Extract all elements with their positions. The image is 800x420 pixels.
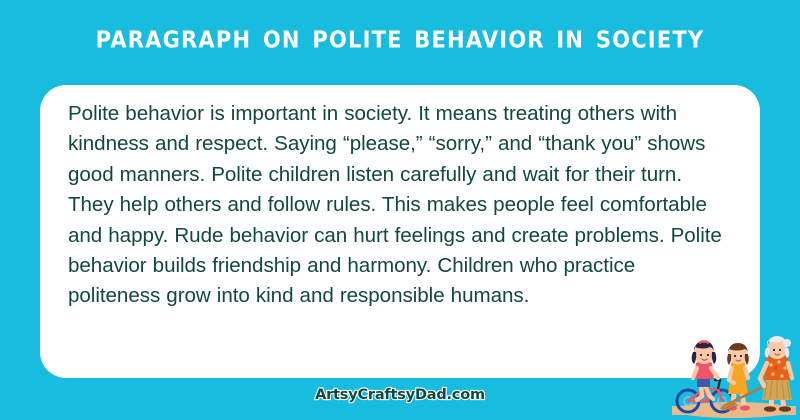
content-card: Polite behavior is important in society.…: [40, 85, 760, 378]
header: Paragraph on Polite Behavior in Society: [0, 16, 800, 54]
site-watermark: ArtsyCraftsyDad.com: [315, 387, 485, 403]
footer: ArtsyCraftsyDad.com: [0, 386, 800, 404]
paragraph-text: Polite behavior is important in society.…: [68, 99, 728, 312]
poster: Paragraph on Polite Behavior in Society …: [0, 0, 800, 420]
page-title: Paragraph on Polite Behavior in Society: [96, 16, 705, 59]
